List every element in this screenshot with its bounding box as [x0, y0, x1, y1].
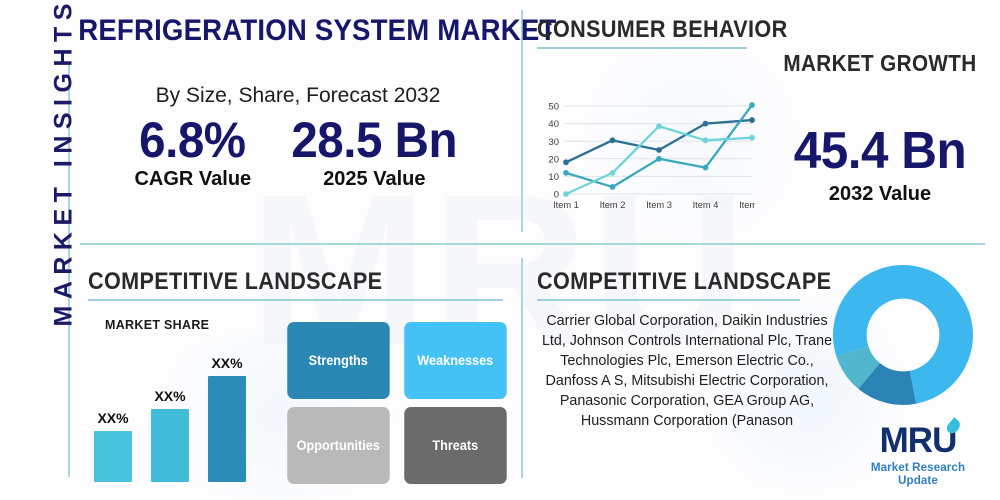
- company-list: Carrier Global Corporation, Daikin Indus…: [537, 311, 837, 431]
- swot-weaknesses-label: Weaknesses: [417, 353, 493, 368]
- bar-column: XX%: [94, 410, 132, 482]
- metric-2025-label: 2025 Value: [287, 168, 461, 191]
- market-growth-title: MARKET GROWTH: [781, 50, 979, 77]
- bar-value-label: XX%: [97, 410, 128, 426]
- bar-value-label: XX%: [154, 388, 185, 404]
- svg-text:50: 50: [548, 102, 559, 113]
- consumer-behavior-panel: CONSUMER BEHAVIOR: [537, 16, 817, 49]
- competitive-donut-chart: [832, 264, 974, 409]
- consumer-behavior-title: CONSUMER BEHAVIOR: [537, 16, 788, 44]
- swot-strengths-label: Strengths: [309, 353, 368, 368]
- competitive-right-header: COMPETITIVE LANDSCAPE: [537, 268, 864, 296]
- bar-column: XX%: [208, 355, 246, 482]
- market-share-bar-chart: MARKET SHARE XX%XX%XX%: [88, 318, 288, 483]
- donut-slice: [833, 265, 903, 357]
- svg-text:40: 40: [548, 119, 559, 130]
- side-label-market-insights: MARKET INSIGHTS: [50, 27, 79, 327]
- svg-text:Item 1: Item 1: [553, 200, 579, 210]
- swot-opportunities[interactable]: Opportunities: [287, 407, 389, 484]
- competitive-left-title: COMPETITIVE LANDSCAPE: [88, 268, 382, 296]
- swot-strengths[interactable]: Strengths: [287, 322, 389, 399]
- page-title: REFRIGERATION SYSTEM MARKET: [78, 14, 497, 48]
- infographic-root: MRU MARKET INSIGHTS REFRIGERATION SYSTEM…: [0, 0, 1000, 500]
- swot-opportunities-label: Opportunities: [297, 438, 380, 453]
- donut-chart-svg: [832, 264, 974, 409]
- donut-slices: [833, 265, 973, 405]
- mru-logo: MR U Market Research Update: [852, 424, 984, 487]
- consumer-behavior-line-chart: 01020304050 Item 1Item 2Item 3Item 4Item…: [540, 100, 755, 220]
- bar: [94, 431, 132, 482]
- line-chart-x-tick-labels: Item 1Item 2Item 3Item 4Item 5: [553, 200, 755, 210]
- page-subtitle: By Size, Share, Forecast 2032: [78, 84, 518, 108]
- competitive-left-header: COMPETITIVE LANDSCAPE: [88, 268, 415, 296]
- divider-vertical-bottom: [521, 258, 523, 478]
- svg-text:Item 5: Item 5: [739, 200, 755, 210]
- consumer-behavior-rule: [537, 47, 747, 49]
- metric-cagr: 6.8% CAGR Value: [134, 114, 251, 191]
- competitive-right-rule: [537, 299, 800, 301]
- logo-mark: MR U: [852, 424, 984, 458]
- competitive-left-rule: [88, 299, 503, 301]
- swot-grid: Strengths Weaknesses Opportunities Threa…: [284, 322, 509, 484]
- svg-text:Item 4: Item 4: [693, 200, 719, 210]
- logo-text-mr: MR: [880, 423, 932, 458]
- market-share-label: MARKET SHARE: [105, 318, 209, 332]
- svg-text:30: 30: [548, 137, 559, 148]
- line-chart-y-tick-labels: 01020304050: [548, 102, 559, 201]
- title-panel: REFRIGERATION SYSTEM MARKET: [60, 14, 515, 48]
- svg-text:10: 10: [548, 172, 559, 183]
- bar-value-label: XX%: [211, 355, 242, 371]
- competitive-right-title: COMPETITIVE LANDSCAPE: [537, 268, 831, 296]
- swot-weaknesses[interactable]: Weaknesses: [404, 322, 506, 399]
- competitive-landscape-right-panel: COMPETITIVE LANDSCAPE Carrier Global Cor…: [537, 268, 837, 431]
- line-chart-svg: 01020304050 Item 1Item 2Item 3Item 4Item…: [540, 100, 755, 220]
- bar: [208, 376, 246, 482]
- svg-text:Item 3: Item 3: [646, 200, 672, 210]
- logo-text-u: U: [932, 423, 956, 458]
- divider-horizontal: [80, 243, 985, 245]
- swot-threats-label: Threats: [432, 438, 478, 453]
- market-growth-value: 45.4 Bn: [776, 121, 985, 181]
- metric-2025: 28.5 Bn 2025 Value: [287, 114, 461, 191]
- metric-row: 6.8% CAGR Value 28.5 Bn 2025 Value: [78, 114, 518, 191]
- svg-text:20: 20: [548, 154, 559, 165]
- metric-cagr-label: CAGR Value: [134, 168, 251, 191]
- bar: [151, 409, 189, 482]
- market-growth-panel: MARKET GROWTH 45.4 Bn 2032 Value: [770, 50, 990, 206]
- metric-cagr-value: 6.8%: [137, 114, 248, 167]
- line-chart-series: [563, 102, 755, 197]
- market-growth-label: 2032 Value: [770, 183, 990, 206]
- metrics-panel: By Size, Share, Forecast 2032 6.8% CAGR …: [78, 84, 518, 191]
- metric-2025-value: 28.5 Bn: [292, 114, 458, 167]
- donut-slice: [903, 265, 973, 404]
- swot-threats[interactable]: Threats: [404, 407, 506, 484]
- logo-tagline: Market Research Update: [852, 461, 984, 487]
- svg-text:0: 0: [554, 190, 559, 201]
- bar-column: XX%: [151, 388, 189, 482]
- svg-text:Item 2: Item 2: [600, 200, 626, 210]
- competitive-landscape-left-panel: COMPETITIVE LANDSCAPE MARKET SHARE XX%XX…: [88, 268, 508, 301]
- consumer-behavior-header: CONSUMER BEHAVIOR: [537, 16, 815, 44]
- market-share-bars: XX%XX%XX%: [94, 340, 274, 482]
